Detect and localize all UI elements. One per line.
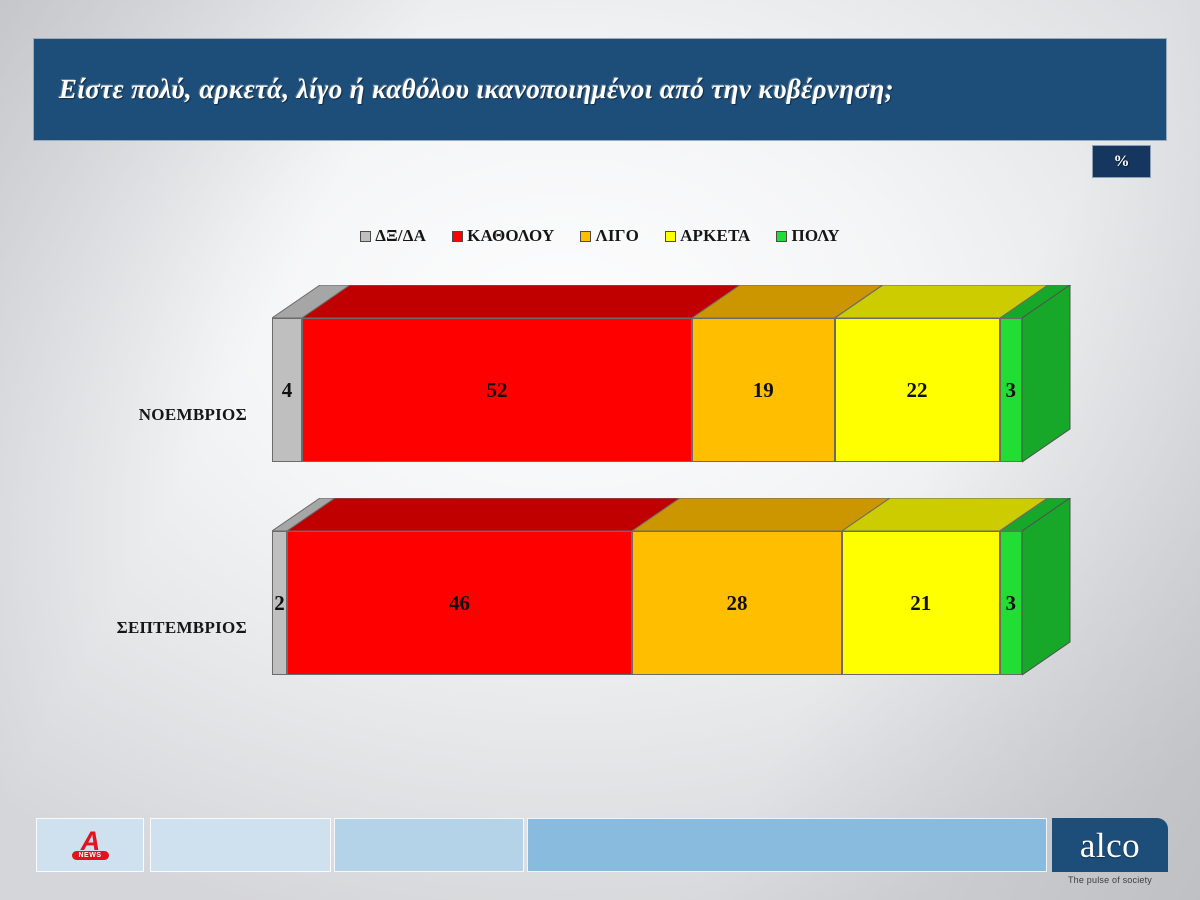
- alco-wordmark: alco: [1080, 828, 1140, 863]
- alco-logo: alco: [1052, 818, 1168, 872]
- alco-tagline: The pulse of society: [1052, 875, 1168, 885]
- footer-block-3: [527, 818, 1047, 872]
- footer-block-1: [150, 818, 331, 872]
- alpha-letter: A: [81, 830, 100, 853]
- alpha-news-label: NEWS: [72, 851, 109, 860]
- alpha-news-logo: A NEWS: [36, 818, 144, 872]
- footer-block-2: [334, 818, 524, 872]
- footer-bar: A NEWS alco The pulse of society: [0, 0, 1200, 900]
